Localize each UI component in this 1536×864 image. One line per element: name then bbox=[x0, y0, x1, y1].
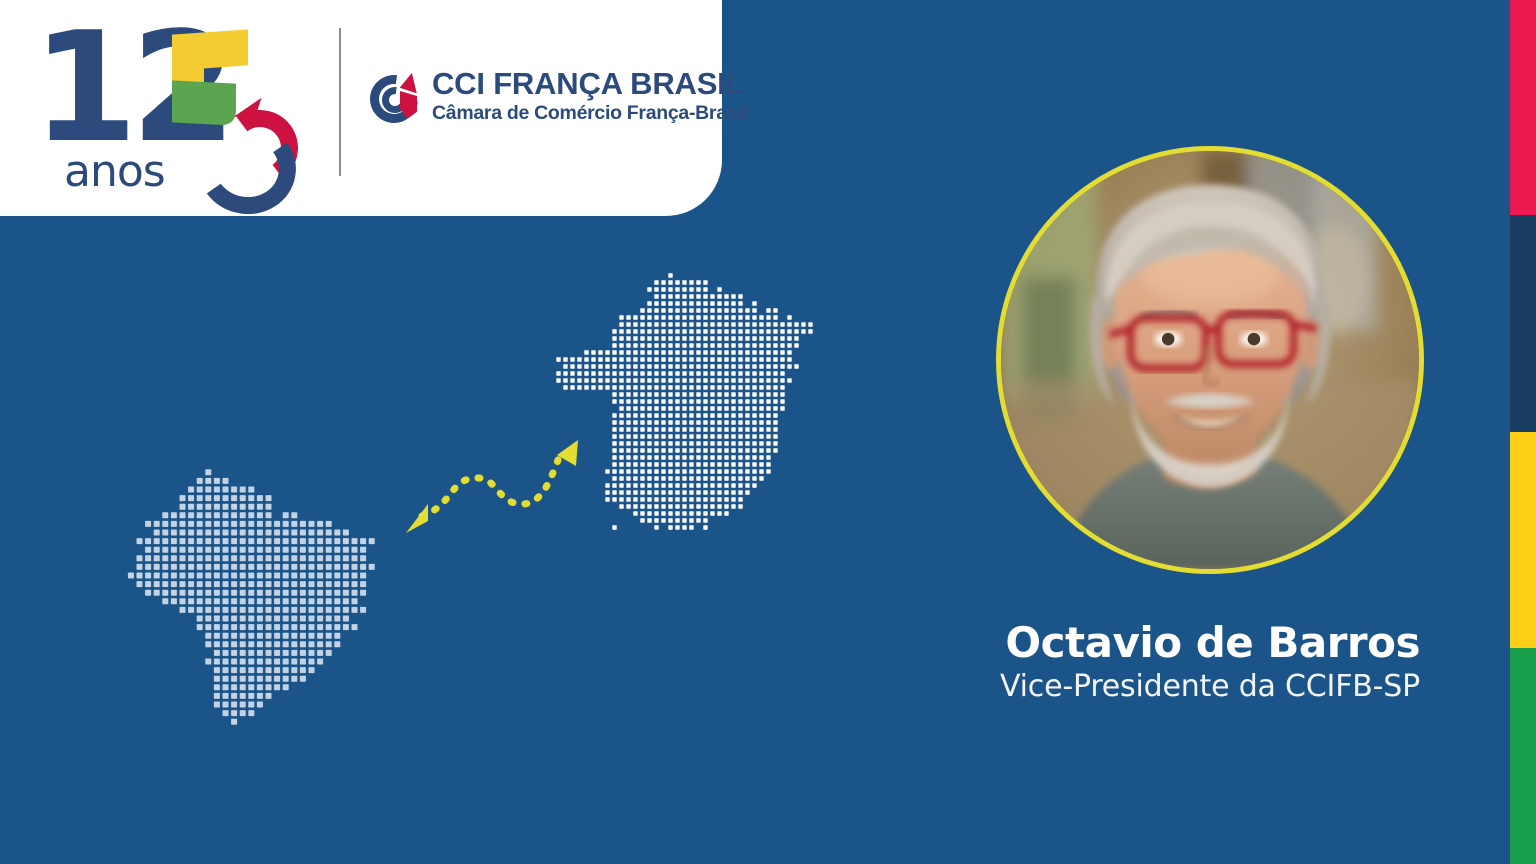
strip-segment-crimson bbox=[1510, 0, 1536, 215]
arrow-head-left bbox=[406, 504, 428, 533]
strip-segment-navy bbox=[1510, 215, 1536, 432]
logo-divider bbox=[339, 28, 341, 176]
portrait-photo bbox=[1001, 151, 1419, 569]
anniversary-word: anos bbox=[64, 150, 165, 194]
speaker-role: Vice-Presidente da CCIFB-SP bbox=[760, 668, 1420, 706]
cci-brand-logo: CCI FRANÇA BRASIL Câmara de Comércio Fra… bbox=[368, 68, 698, 132]
strip-segment-yellow bbox=[1510, 432, 1536, 648]
brazil-dot-map bbox=[118, 468, 388, 730]
header-logo-card: 12 anos CCI FRANÇA BRASIL Câmara de Comé… bbox=[0, 0, 722, 216]
strip-segment-green bbox=[1510, 648, 1536, 864]
cci-text-block: CCI FRANÇA BRASIL Câmara de Comércio Fra… bbox=[432, 68, 748, 126]
speaker-info: Octavio de Barros Vice-Presidente da CCI… bbox=[760, 620, 1420, 706]
anniversary-stylized-five-icon bbox=[170, 32, 300, 202]
cci-subtitle: Câmara de Comércio França-Brasil bbox=[432, 102, 748, 125]
anniversary-125-logo: 12 anos bbox=[28, 18, 308, 198]
arrow-dotted-path bbox=[422, 450, 562, 516]
cci-circle-mark-icon bbox=[368, 72, 424, 128]
five-green-block bbox=[172, 80, 236, 125]
right-color-strip bbox=[1510, 0, 1536, 864]
cci-title: CCI FRANÇA BRASIL bbox=[432, 68, 748, 100]
speaker-portrait bbox=[996, 146, 1424, 574]
speaker-name: Octavio de Barros bbox=[760, 620, 1420, 666]
brazil-france-connector-arrow-icon bbox=[392, 428, 592, 543]
